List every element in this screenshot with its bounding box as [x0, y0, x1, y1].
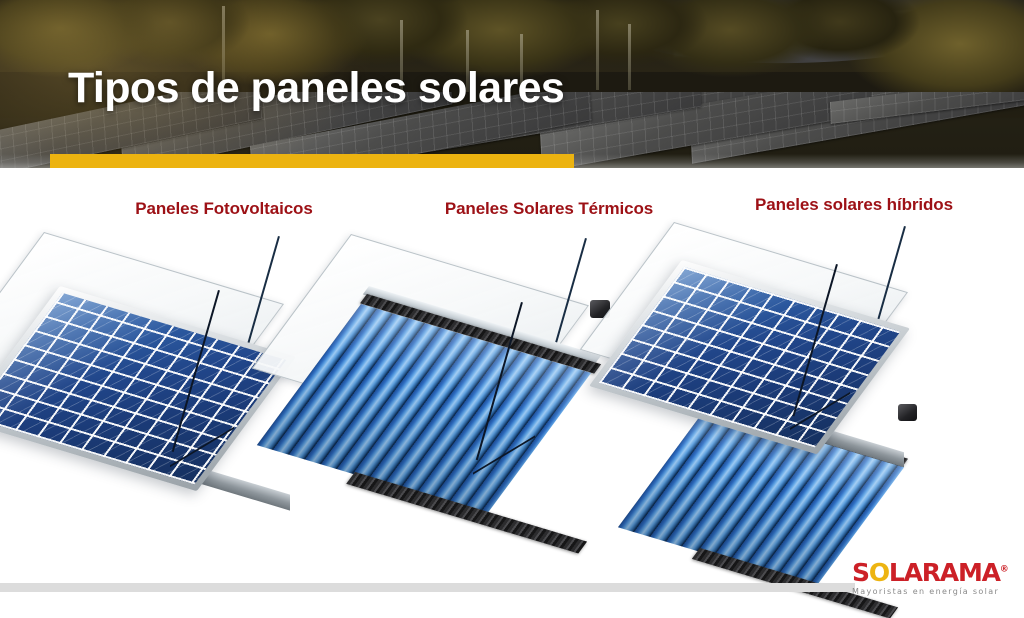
hero-banner: Tipos de paneles solares	[0, 0, 1024, 168]
footer-rule	[0, 583, 855, 592]
brand-logo-s: S	[852, 558, 869, 587]
brand-logo-rest: LARAMA	[889, 558, 1000, 587]
page-title: Tipos de paneles solares	[68, 66, 564, 111]
main-content: Paneles Fotovoltaicos Paneles Solares Té…	[0, 168, 1024, 616]
brand-tagline: Mayoristas en energía solar	[852, 587, 998, 596]
collector-end-cap	[898, 404, 917, 421]
light-pole	[628, 24, 631, 90]
brand-logo: SOLARAMA® Mayoristas en energía solar	[852, 560, 998, 596]
brand-logo-o-sun-icon: O	[869, 558, 889, 587]
accent-bar	[50, 154, 574, 168]
brand-logo-wordmark: SOLARAMA®	[852, 560, 998, 585]
illustration-hybrid-panel	[668, 218, 1008, 538]
column-heading-hybrid: Paneles solares híbridos	[630, 195, 1024, 215]
registered-mark: ®	[1000, 565, 1009, 575]
light-pole	[596, 10, 599, 90]
